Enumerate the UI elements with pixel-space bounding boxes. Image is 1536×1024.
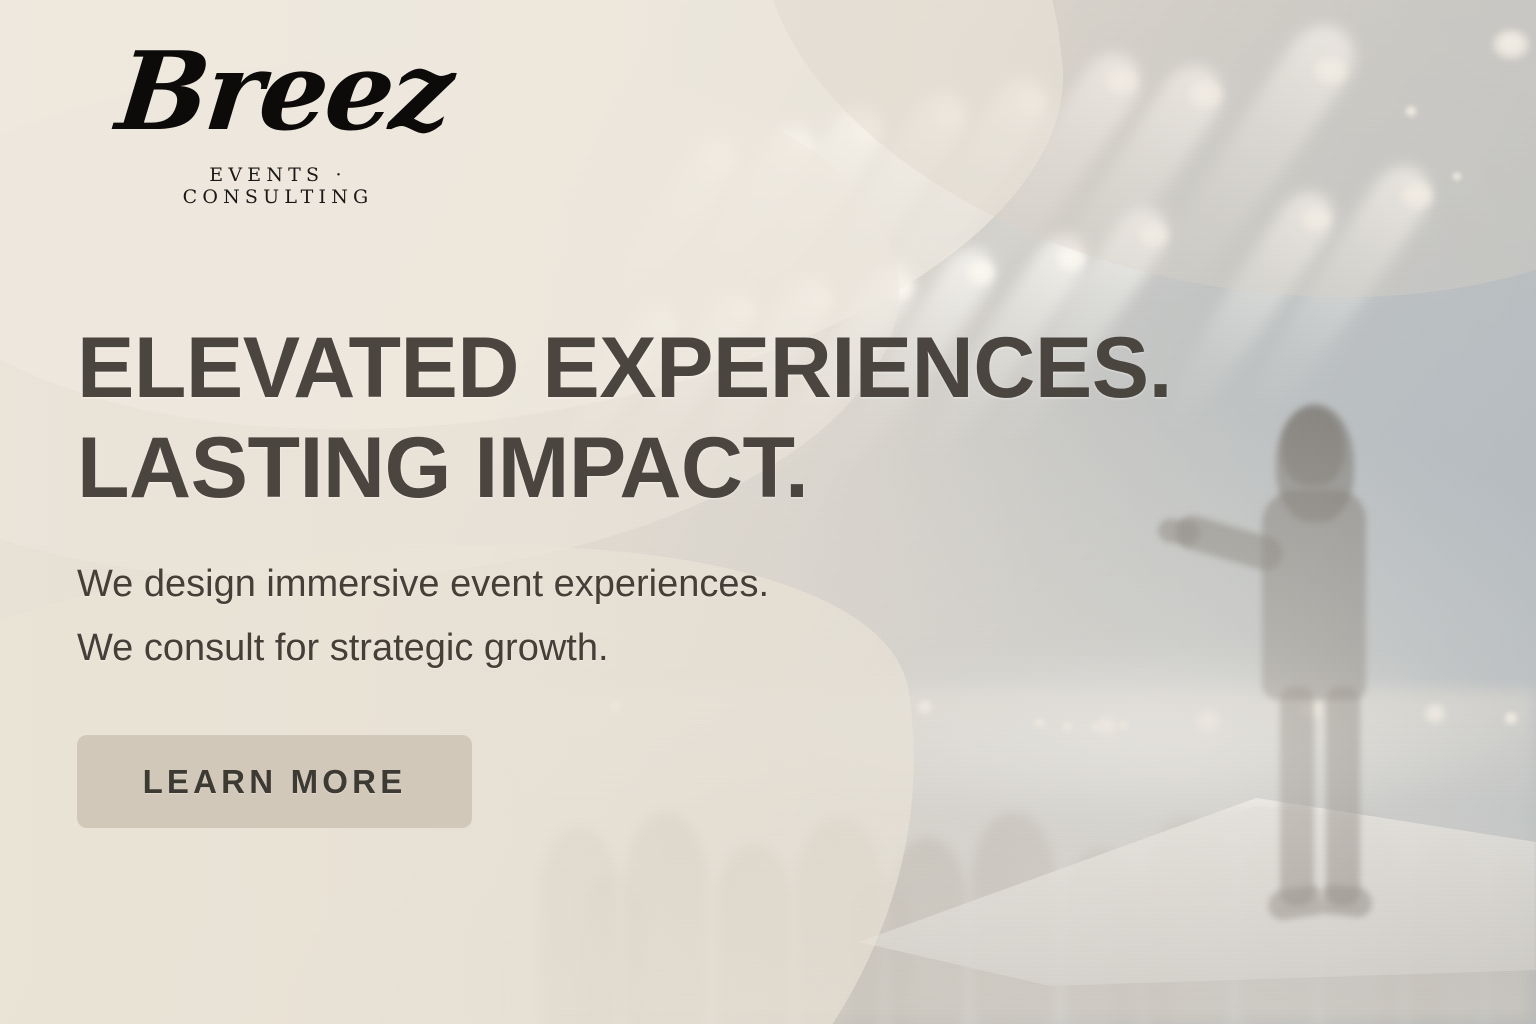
logo-tagline: EVENTS · CONSULTING bbox=[118, 164, 438, 208]
subtitle-line-1: We design immersive event experiences. bbox=[77, 552, 769, 616]
brand-logo[interactable]: Breez EVENTS · CONSULTING bbox=[118, 38, 438, 208]
hero-banner: Breez EVENTS · CONSULTING ELEVATED EXPER… bbox=[0, 0, 1536, 1024]
learn-more-label: LEARN MORE bbox=[143, 763, 407, 801]
subtitle-line-2: We consult for strategic growth. bbox=[77, 616, 769, 680]
headline-line-2: LASTING IMPACT. bbox=[77, 418, 1172, 518]
page-title: ELEVATED EXPERIENCES. LASTING IMPACT. bbox=[77, 318, 1172, 518]
logo-wordmark: Breez bbox=[112, 38, 443, 146]
hero-subtitle: We design immersive event experiences. W… bbox=[77, 552, 769, 680]
learn-more-button[interactable]: LEARN MORE bbox=[77, 735, 472, 828]
hero-content: Breez EVENTS · CONSULTING ELEVATED EXPER… bbox=[0, 0, 1536, 1024]
headline-line-1: ELEVATED EXPERIENCES. bbox=[77, 320, 1172, 416]
